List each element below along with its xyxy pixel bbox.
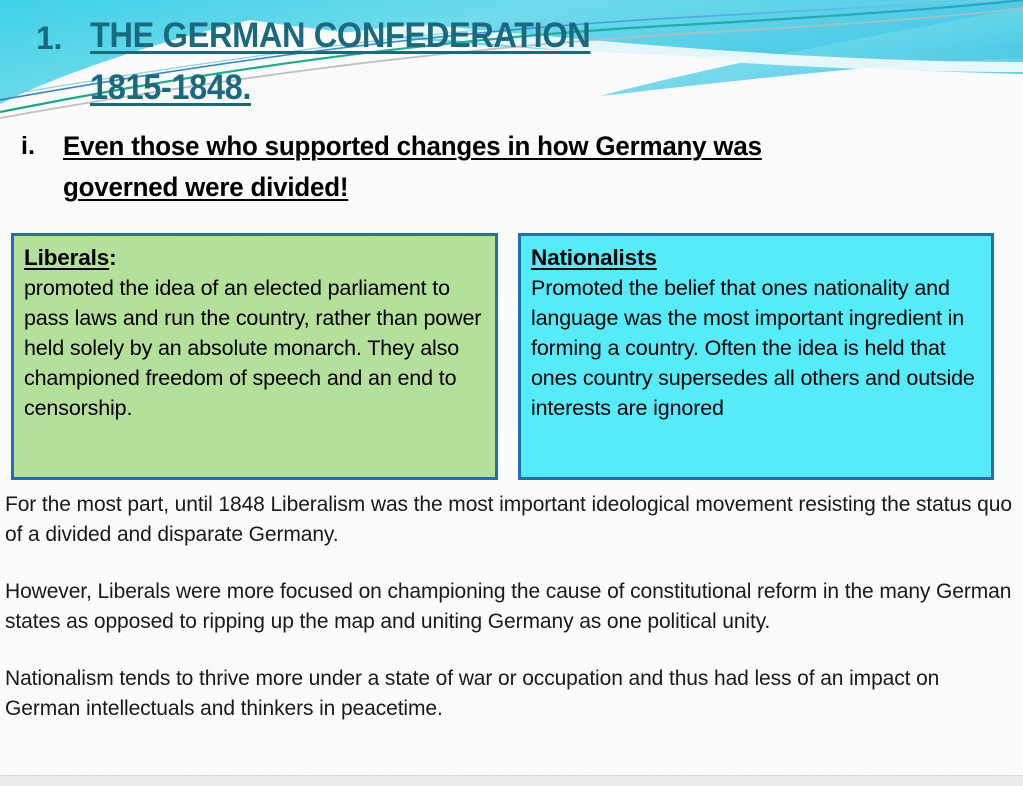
title-line-2: 1815-1848. bbox=[90, 62, 590, 114]
title-list-marker: 1. bbox=[0, 10, 90, 66]
callout-heading-nationalists: Nationalists bbox=[531, 242, 981, 273]
subtitle-line-1: Even those who supported changes in how … bbox=[63, 126, 963, 167]
callout-heading-liberals: Liberals: bbox=[24, 242, 485, 273]
callout-box-liberals: Liberals: promoted the idea of an electe… bbox=[11, 233, 498, 480]
slide-canvas: 1. THE GERMAN CONFEDERATION 1815-1848. i… bbox=[0, 0, 1023, 786]
callout-heading-liberals-text: Liberals bbox=[24, 245, 109, 270]
bottom-strip bbox=[0, 775, 1023, 786]
subtitle-text: Even those who supported changes in how … bbox=[63, 126, 963, 208]
paragraph-2: However, Liberals were more focused on c… bbox=[5, 577, 1015, 636]
callout-heading-liberals-suffix: : bbox=[109, 245, 116, 270]
paragraph-3: Nationalism tends to thrive more under a… bbox=[5, 664, 1015, 723]
callout-body-liberals: promoted the idea of an elected parliame… bbox=[24, 273, 485, 423]
page-title: 1. THE GERMAN CONFEDERATION 1815-1848. bbox=[0, 10, 1000, 114]
callout-heading-nationalists-text: Nationalists bbox=[531, 245, 657, 270]
callout-body-nationalists: Promoted the belief that ones nationalit… bbox=[531, 273, 981, 423]
title-line-1: THE GERMAN CONFEDERATION bbox=[90, 10, 590, 62]
subtitle: i. Even those who supported changes in h… bbox=[0, 126, 1000, 208]
subtitle-list-marker: i. bbox=[0, 126, 63, 166]
body-paragraphs: For the most part, until 1848 Liberalism… bbox=[5, 490, 1015, 723]
callout-box-nationalists: Nationalists Promoted the belief that on… bbox=[518, 233, 994, 480]
paragraph-1: For the most part, until 1848 Liberalism… bbox=[5, 490, 1015, 549]
title-text: THE GERMAN CONFEDERATION 1815-1848. bbox=[90, 10, 590, 114]
subtitle-line-2: governed were divided! bbox=[63, 167, 963, 208]
